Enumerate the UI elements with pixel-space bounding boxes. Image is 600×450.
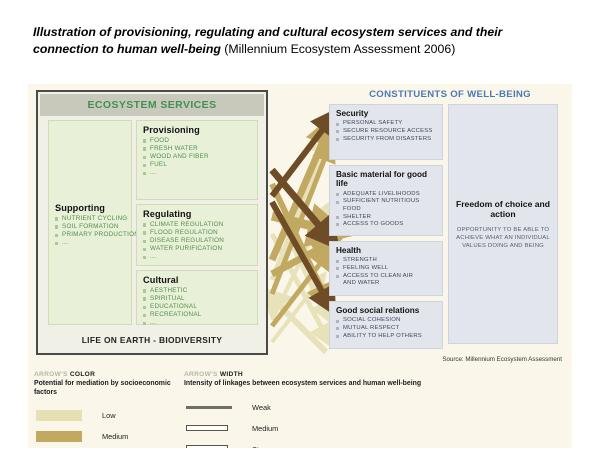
legend-row-strong: Strong xyxy=(184,439,444,448)
list-item: SPIRITUAL xyxy=(143,295,252,303)
legend-color-column: ARROW'S COLOR Potential for mediation by… xyxy=(34,370,179,448)
wellbeing-title-basic-material: Basic material for good life xyxy=(336,170,437,189)
wellbeing-list-good-social-relations: SOCIAL COHESION MUTUAL RESPECT ABILITY T… xyxy=(336,317,437,340)
ecosystem-services-header-label: ECOSYSTEM SERVICES xyxy=(88,99,217,111)
freedom-body: OPPORTUNITY TO BE ABLE TO ACHIEVE WHAT A… xyxy=(455,226,551,250)
service-card-cultural[interactable]: Cultural AESTHETIC SPIRITUAL EDUCATIONAL… xyxy=(136,270,258,325)
legend-label-weak: Weak xyxy=(252,403,271,412)
wellbeing-card-basic-material[interactable]: Basic material for good life ADEQUATE LI… xyxy=(329,165,443,236)
ecosystem-services-cards: Supporting NUTRIENT CYCLING SOIL FORMATI… xyxy=(48,120,258,325)
legend-row-low: Low xyxy=(34,405,179,426)
list-item: PERSONAL SAFETY xyxy=(336,120,437,128)
list-item: EDUCATIONAL xyxy=(143,303,252,311)
swatch-medium xyxy=(36,431,82,442)
legend-label-medium-width: Medium xyxy=(252,424,278,433)
wellbeing-list-security: PERSONAL SAFETY SECURE RESOURCE ACCESS S… xyxy=(336,120,437,143)
list-item: AESTHETIC xyxy=(143,287,252,295)
list-item: WATER PURIFICATION xyxy=(143,245,252,253)
list-item: SECURE RESOURCE ACCESS xyxy=(336,128,437,136)
page-title: Illustration of provisioning, regulating… xyxy=(33,24,567,57)
list-item: SUFFICIENT NUTRITIOUS FOOD xyxy=(336,198,437,213)
legend-width-column: ARROW'S WIDTH Intensity of linkages betw… xyxy=(184,370,444,448)
list-item: ABILITY TO HELP OTHERS xyxy=(336,333,437,341)
wellbeing-card-health[interactable]: Health STRENGTH FEELING WELL ACCESS TO C… xyxy=(329,241,443,296)
list-item: FRESH WATER xyxy=(143,145,252,153)
list-item: STRENGTH xyxy=(336,257,437,265)
service-card-supporting[interactable]: Supporting NUTRIENT CYCLING SOIL FORMATI… xyxy=(48,120,132,325)
wellbeing-list-basic-material: ADEQUATE LIVELIHOODS SUFFICIENT NUTRITIO… xyxy=(336,191,437,229)
service-list-provisioning: FOOD FRESH WATER WOOD AND FIBER FUEL ... xyxy=(143,137,252,177)
swatch-low xyxy=(36,410,82,421)
list-item: FLOOD REGULATION xyxy=(143,229,252,237)
service-list-supporting: NUTRIENT CYCLING SOIL FORMATION PRIMARY … xyxy=(55,215,126,247)
legend-row-medium-width: Medium xyxy=(184,418,444,439)
service-title-supporting: Supporting xyxy=(55,203,126,213)
legend-row-weak: Weak xyxy=(184,397,444,418)
diagram-canvas: ECOSYSTEM SERVICES Supporting NUTRIENT C… xyxy=(28,84,572,448)
legend-label-medium: Medium xyxy=(102,432,128,441)
list-item: ... xyxy=(55,239,126,247)
list-item: MUTUAL RESPECT xyxy=(336,325,437,333)
wellbeing-list-health: STRENGTH FEELING WELL ACCESS TO CLEAN AI… xyxy=(336,257,437,287)
list-item: FEELING WELL xyxy=(336,265,437,273)
service-title-regulating: Regulating xyxy=(143,209,252,219)
source-attribution: Source: Millennium Ecosystem Assessment xyxy=(442,356,562,363)
biodiversity-footer: LIFE ON EARTH - BIODIVERSITY xyxy=(40,329,264,351)
legend-label-strong: Strong xyxy=(252,445,274,448)
service-card-regulating[interactable]: Regulating CLIMATE REGULATION FLOOD REGU… xyxy=(136,204,258,266)
list-item: ... xyxy=(143,319,252,327)
wellbeing-header: CONSTITUENTS OF WELL-BEING xyxy=(328,86,572,102)
list-item: ... xyxy=(143,169,252,177)
title-rest: (Millennium Ecosystem Assessment 2006) xyxy=(221,42,455,56)
ecosystem-services-header: ECOSYSTEM SERVICES xyxy=(40,94,264,116)
service-title-provisioning: Provisioning xyxy=(143,125,252,135)
width-sample-weak xyxy=(186,401,232,413)
legend-color-kicker-strong: COLOR xyxy=(70,371,95,378)
service-list-regulating: CLIMATE REGULATION FLOOD REGULATION DISE… xyxy=(143,221,252,261)
wellbeing-card-good-social-relations[interactable]: Good social relations SOCIAL COHESION MU… xyxy=(329,301,443,349)
legend-row-medium: Medium xyxy=(34,426,179,447)
list-item: SOCIAL COHESION xyxy=(336,317,437,325)
list-item: SECURITY FROM DISASTERS xyxy=(336,136,437,144)
legend-width-kicker-strong: WIDTH xyxy=(220,371,243,378)
service-list-cultural: AESTHETIC SPIRITUAL EDUCATIONAL RECREATI… xyxy=(143,287,252,327)
legend-width-subtitle: Intensity of linkages between ecosystem … xyxy=(184,380,444,389)
list-item: FUEL xyxy=(143,161,252,169)
service-title-cultural: Cultural xyxy=(143,275,252,285)
ecosystem-services-panel: ECOSYSTEM SERVICES Supporting NUTRIENT C… xyxy=(36,90,268,355)
list-item: WOOD AND FIBER xyxy=(143,153,252,161)
legend-color-kicker-muted: ARROW'S xyxy=(34,371,68,378)
list-item: SOIL FORMATION xyxy=(55,223,126,231)
legend-width-kicker-muted: ARROW'S xyxy=(184,371,218,378)
wellbeing-column: Security PERSONAL SAFETY SECURE RESOURCE… xyxy=(329,104,443,354)
width-sample-medium xyxy=(186,422,232,434)
list-item: FOOD xyxy=(143,137,252,145)
legend-color-kicker: ARROW'S COLOR xyxy=(34,370,179,379)
wellbeing-header-label: CONSTITUENTS OF WELL-BEING xyxy=(369,89,531,100)
list-item: NUTRIENT CYCLING xyxy=(55,215,126,223)
freedom-title: Freedom of choice and action xyxy=(455,199,551,220)
list-item: ... xyxy=(143,253,252,261)
wellbeing-title-good-social-relations: Good social relations xyxy=(336,306,437,315)
list-item: ACCESS TO CLEAN AIR xyxy=(336,273,437,281)
list-item: PRIMARY PRODUCTION xyxy=(55,231,126,239)
list-item-continuation: AND WATER xyxy=(336,280,437,288)
width-sample-strong xyxy=(186,443,232,448)
legend-color-rows: Low Medium High xyxy=(34,405,179,448)
legend-row-high: High xyxy=(34,447,179,448)
list-item: RECREATIONAL xyxy=(143,311,252,319)
wellbeing-title-security: Security xyxy=(336,109,437,118)
figure-root: Illustration of provisioning, regulating… xyxy=(0,0,600,450)
legend-width-kicker: ARROW'S WIDTH xyxy=(184,370,444,379)
legend-width-rows: Weak Medium Strong xyxy=(184,397,444,448)
list-item: ADEQUATE LIVELIHOODS xyxy=(336,191,437,199)
service-card-provisioning[interactable]: Provisioning FOOD FRESH WATER WOOD AND F… xyxy=(136,120,258,200)
list-item: SHELTER xyxy=(336,214,437,222)
wellbeing-card-freedom[interactable]: Freedom of choice and action OPPORTUNITY… xyxy=(448,104,558,344)
legend-label-low: Low xyxy=(102,411,116,420)
list-item: CLIMATE REGULATION xyxy=(143,221,252,229)
biodiversity-footer-label: LIFE ON EARTH - BIODIVERSITY xyxy=(82,335,223,345)
wellbeing-card-security[interactable]: Security PERSONAL SAFETY SECURE RESOURCE… xyxy=(329,104,443,160)
legend-color-subtitle: Potential for mediation by socioeconomic… xyxy=(34,380,179,397)
wellbeing-title-health: Health xyxy=(336,246,437,255)
list-item: DISEASE REGULATION xyxy=(143,237,252,245)
list-item: ACCESS TO GOODS xyxy=(336,221,437,229)
